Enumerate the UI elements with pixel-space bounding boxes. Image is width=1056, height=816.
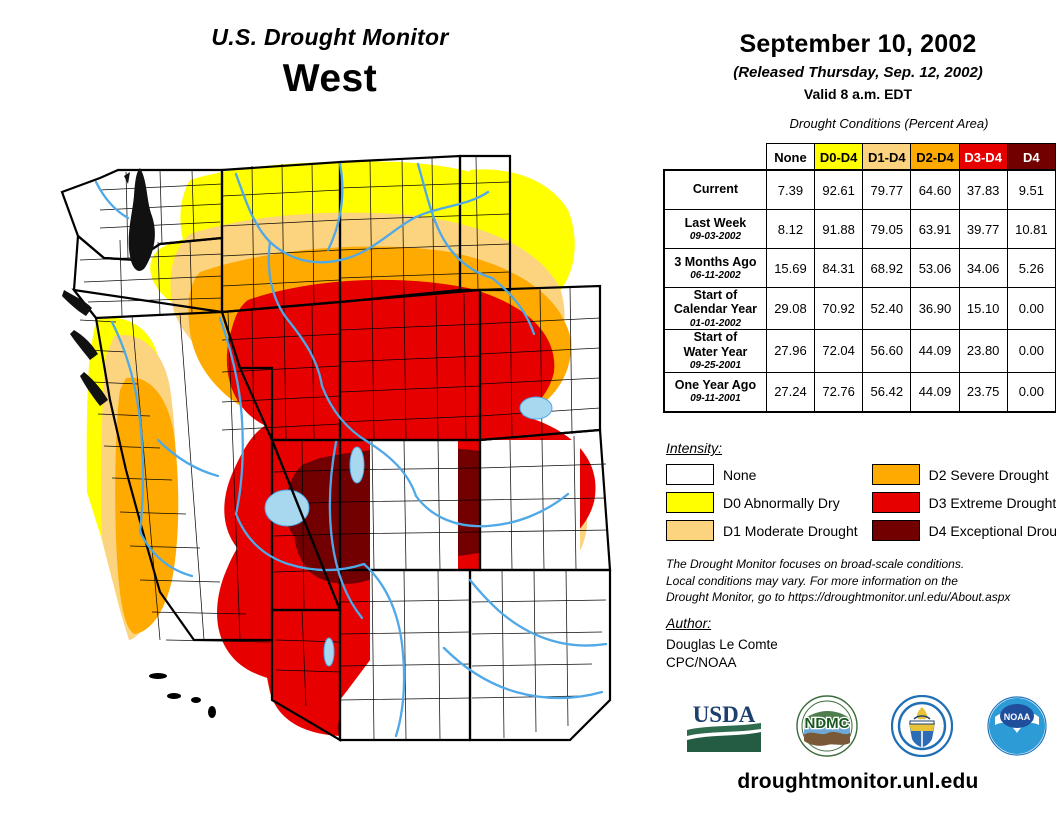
legend-label-d0: D0 Abnormally Dry [723, 495, 840, 511]
column-header-d2-d4: D2-D4 [911, 144, 959, 171]
cell-value: 23.80 [959, 330, 1007, 372]
legend-label-d1: D1 Moderate Drought [723, 523, 858, 539]
table-body: Current 7.39 92.61 79.77 64.60 37.83 9.5… [665, 171, 1056, 412]
cell-value: 23.75 [959, 372, 1007, 411]
cell-value: 5.26 [1007, 249, 1055, 288]
cell-value: 7.39 [766, 171, 814, 210]
legend-label-d2: D2 Severe Drought [929, 467, 1049, 483]
legend-column-right: D2 Severe Drought D3 Extreme Drought D4 … [872, 464, 1056, 541]
legend-item-none: None [666, 464, 858, 485]
map-region-title: West [0, 57, 660, 101]
cell-value: 29.08 [766, 288, 814, 330]
swatch-d2 [872, 464, 920, 485]
legend-item-d2: D2 Severe Drought [872, 464, 1056, 485]
row-label-last-week: Last Week 09-03-2002 [665, 210, 767, 249]
row-label-text: Start ofWater Year [665, 330, 766, 359]
drought-map-graphic[interactable] [40, 140, 650, 790]
swatch-d3 [872, 492, 920, 513]
map-supertitle: U.S. Drought Monitor [0, 24, 660, 51]
cell-value: 63.91 [911, 210, 959, 249]
row-label-start-of-calendar-year: Start ofCalendar Year 01-01-2002 [665, 288, 767, 330]
table-row: Last Week 09-03-2002 8.12 91.88 79.05 63… [665, 210, 1056, 249]
column-header-d4: D4 [1007, 144, 1055, 171]
table-caption: Drought Conditions (Percent Area) [660, 116, 1056, 131]
cell-value: 44.09 [911, 330, 959, 372]
cell-value: 0.00 [1007, 330, 1055, 372]
legend-item-d0: D0 Abnormally Dry [666, 492, 858, 513]
row-label-text: 3 Months Ago [665, 255, 766, 269]
row-label-start-of-water-year: Start ofWater Year 09-25-2001 [665, 330, 767, 372]
cell-value: 53.06 [911, 249, 959, 288]
column-header-none: None [766, 144, 814, 171]
usdc-seal-logo[interactable] [891, 695, 953, 762]
row-label-text: Start ofCalendar Year [665, 288, 766, 317]
cell-value: 8.12 [766, 210, 814, 249]
cell-value: 91.88 [815, 210, 863, 249]
cell-value: 56.60 [863, 330, 911, 372]
cell-value: 34.06 [959, 249, 1007, 288]
cell-value: 37.83 [959, 171, 1007, 210]
legend-item-d1: D1 Moderate Drought [666, 520, 858, 541]
svg-text:USDA: USDA [692, 702, 755, 727]
author-affiliation: CPC/NOAA [666, 654, 778, 672]
svg-text:NDMC: NDMC [804, 715, 849, 732]
legend-label-d4: D4 Exceptional Drought [929, 523, 1056, 539]
column-header-d1-d4: D1-D4 [863, 144, 911, 171]
row-label-current: Current [665, 171, 767, 210]
legend-item-d3: D3 Extreme Drought [872, 492, 1056, 513]
author-section: Author: Douglas Le Comte CPC/NOAA [666, 615, 778, 672]
cell-value: 68.92 [863, 249, 911, 288]
info-panel: September 10, 2002 (Released Thursday, S… [660, 0, 1056, 816]
swatch-d1 [666, 520, 714, 541]
author-heading: Author: [666, 615, 778, 631]
row-label-date: 01-01-2002 [665, 318, 766, 330]
row-label-text: Last Week [665, 216, 766, 230]
author-name: Douglas Le Comte [666, 636, 778, 654]
row-label-date: 06-11-2002 [665, 270, 766, 282]
valid-time: Valid 8 a.m. EDT [660, 86, 1056, 102]
swatch-d0 [666, 492, 714, 513]
noaa-logo[interactable]: NOAA [986, 695, 1048, 762]
cell-value: 39.77 [959, 210, 1007, 249]
disclaimer-line-1: The Drought Monitor focuses on broad-sca… [666, 556, 1046, 573]
cell-value: 79.05 [863, 210, 911, 249]
row-label-text: One Year Ago [665, 378, 766, 392]
table-row: Start ofWater Year 09-25-2001 27.96 72.0… [665, 330, 1056, 372]
release-date: (Released Thursday, Sep. 12, 2002) [660, 64, 1056, 81]
map-panel: U.S. Drought Monitor West [0, 0, 660, 816]
svg-text:NOAA: NOAA [1003, 712, 1030, 722]
logo-strip: USDA NDMC [660, 690, 1056, 766]
intensity-legend: Intensity: None D0 Abnormally Dry D1 Mod… [666, 440, 1056, 541]
table-row: Current 7.39 92.61 79.77 64.60 37.83 9.5… [665, 171, 1056, 210]
issue-date: September 10, 2002 [660, 30, 1056, 59]
table-row: Start ofCalendar Year 01-01-2002 29.08 7… [665, 288, 1056, 330]
cell-value: 52.40 [863, 288, 911, 330]
row-label-date: 09-03-2002 [665, 231, 766, 243]
drought-conditions-table: None D0-D4 D1-D4 D2-D4 D3-D4 D4 Current … [664, 143, 1056, 412]
date-block: September 10, 2002 (Released Thursday, S… [660, 0, 1056, 102]
column-header-d0-d4: D0-D4 [815, 144, 863, 171]
legend-item-d4: D4 Exceptional Drought [872, 520, 1056, 541]
cell-value: 72.76 [815, 372, 863, 411]
disclaimer-text: The Drought Monitor focuses on broad-sca… [666, 556, 1046, 606]
disclaimer-line-2: Local conditions may vary. For more info… [666, 573, 1046, 590]
cell-value: 36.90 [911, 288, 959, 330]
cell-value: 27.96 [766, 330, 814, 372]
legend-label-none: None [723, 467, 756, 483]
legend-column-left: None D0 Abnormally Dry D1 Moderate Droug… [666, 464, 858, 541]
cell-value: 15.10 [959, 288, 1007, 330]
cell-value: 79.77 [863, 171, 911, 210]
row-label-one-year-ago: One Year Ago 09-11-2001 [665, 372, 767, 411]
cell-value: 0.00 [1007, 372, 1055, 411]
cell-value: 92.61 [815, 171, 863, 210]
ndmc-logo[interactable]: NDMC [796, 695, 858, 762]
map-title-block: U.S. Drought Monitor West [0, 24, 660, 101]
row-label-date: 09-11-2001 [665, 393, 766, 405]
swatch-none [666, 464, 714, 485]
row-label-3-months-ago: 3 Months Ago 06-11-2002 [665, 249, 767, 288]
cell-value: 10.81 [1007, 210, 1055, 249]
cell-value: 9.51 [1007, 171, 1055, 210]
cell-value: 72.04 [815, 330, 863, 372]
column-header-d3-d4: D3-D4 [959, 144, 1007, 171]
cell-value: 15.69 [766, 249, 814, 288]
cell-value: 70.92 [815, 288, 863, 330]
row-label-text: Current [665, 182, 766, 196]
cell-value: 84.31 [815, 249, 863, 288]
usda-logo[interactable]: USDA [685, 698, 763, 759]
swatch-d4 [872, 520, 920, 541]
cell-value: 64.60 [911, 171, 959, 210]
table-header-row: None D0-D4 D1-D4 D2-D4 D3-D4 D4 [665, 144, 1056, 171]
table-row: One Year Ago 09-11-2001 27.24 72.76 56.4… [665, 372, 1056, 411]
row-label-date: 09-25-2001 [665, 360, 766, 372]
channel-islands [149, 673, 216, 718]
site-url[interactable]: droughtmonitor.unl.edu [660, 770, 1056, 794]
cell-value: 27.24 [766, 372, 814, 411]
cell-value: 44.09 [911, 372, 959, 411]
table-row: 3 Months Ago 06-11-2002 15.69 84.31 68.9… [665, 249, 1056, 288]
intensity-heading: Intensity: [666, 440, 1056, 456]
legend-label-d3: D3 Extreme Drought [929, 495, 1056, 511]
cell-value: 56.42 [863, 372, 911, 411]
disclaimer-line-3[interactable]: Drought Monitor, go to https://droughtmo… [666, 589, 1046, 606]
table-corner-cell [665, 144, 767, 171]
cell-value: 0.00 [1007, 288, 1055, 330]
